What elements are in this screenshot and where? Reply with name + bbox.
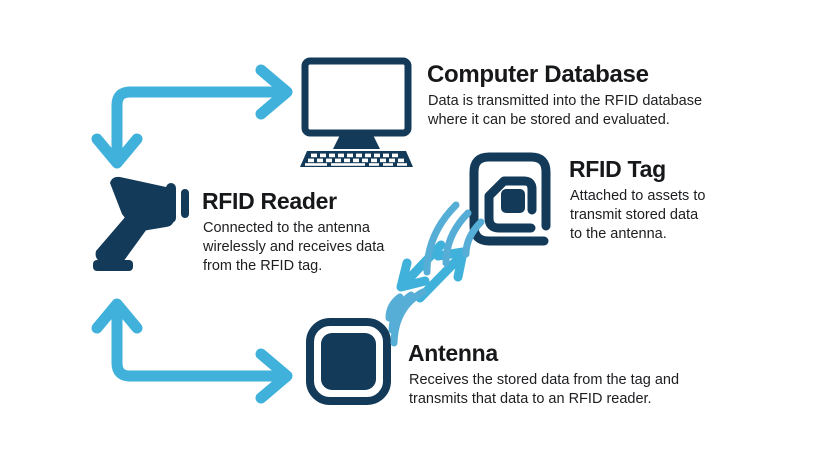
computer-database-title: Computer Database (427, 62, 649, 87)
rfid-tag-description: Attached to assets to transmit stored da… (570, 187, 705, 244)
rfid-reader-description: Connected to the antenna wirelessly and … (203, 219, 384, 276)
computer-database-description: Data is transmitted into the RFID databa… (428, 92, 702, 130)
handheld-scanner-icon (93, 177, 189, 271)
antenna-panel-icon (310, 292, 423, 401)
rfid-diagram-canvas: Computer Database Data is transmitted in… (0, 0, 824, 473)
rfid-tag-title: RFID Tag (569, 157, 666, 181)
antenna-title: Antenna (408, 341, 498, 365)
rfid-reader-title: RFID Reader (202, 189, 337, 213)
antenna-description: Receives the stored data from the tag an… (409, 371, 679, 409)
rfid-tag-chip-icon (427, 157, 546, 272)
desktop-computer-icon (300, 61, 413, 167)
